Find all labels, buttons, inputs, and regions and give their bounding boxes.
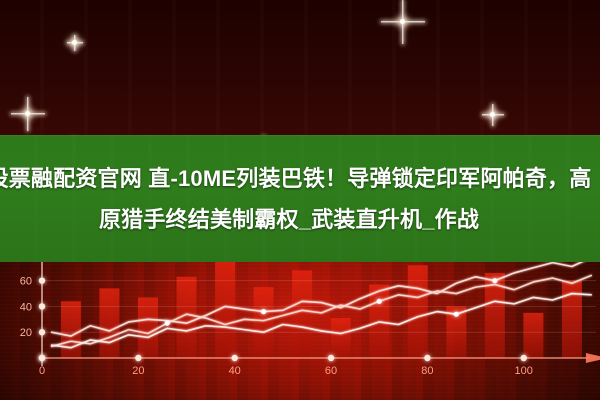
background-top-panel [0,0,600,150]
y-tick-dot [39,303,45,309]
bar [61,301,81,358]
bar [215,259,235,358]
bar [292,270,312,358]
bar [331,318,351,358]
bar [254,287,274,358]
data-point-marker [165,321,170,326]
x-tick-label: 100 [515,365,533,377]
line-path [52,257,592,336]
data-point-marker [492,278,497,283]
x-axis-arrow-icon [586,353,600,363]
stock-chart: 02040608010020406080 [0,238,600,400]
grid-lines [42,255,596,332]
y-tick-label: 60 [20,276,32,288]
x-tick-label: 0 [39,365,45,377]
bar [408,265,428,358]
bar [523,313,543,358]
x-tick-dot [231,355,237,361]
origin-dot [39,355,45,361]
x-tick-label: 80 [421,365,433,377]
bar [99,288,119,358]
data-point-marker [377,299,382,304]
x-tick-dot [521,355,527,361]
data-point-marker [454,312,459,317]
x-tick-label: 40 [229,365,241,377]
y-tick-dot [39,329,45,335]
screenshot-root: 02040608010020406080 股票融配资官网 直-10ME列装巴铁！… [0,0,600,400]
headline-string: 股票融配资官网 直-10ME列装巴铁！导弹锁定印军阿帕奇，高原猎手终结美制霸权_… [0,158,598,240]
y-tick-label: 20 [20,327,32,339]
bar [562,281,582,358]
x-tick-dot [328,355,334,361]
y-tick-dot [39,277,45,283]
x-tick-dot [424,355,430,361]
y-tick-label: 40 [20,301,32,313]
data-point-marker [261,309,266,314]
x-tick-dot [135,355,141,361]
series-a [52,257,592,336]
x-tick-label: 60 [325,365,337,377]
headline-text: 股票融配资官网 直-10ME列装巴铁！导弹锁定印军阿帕奇，高原猎手终结美制霸权_… [0,135,600,262]
bar-group [61,259,582,358]
x-tick-label: 20 [132,365,144,377]
